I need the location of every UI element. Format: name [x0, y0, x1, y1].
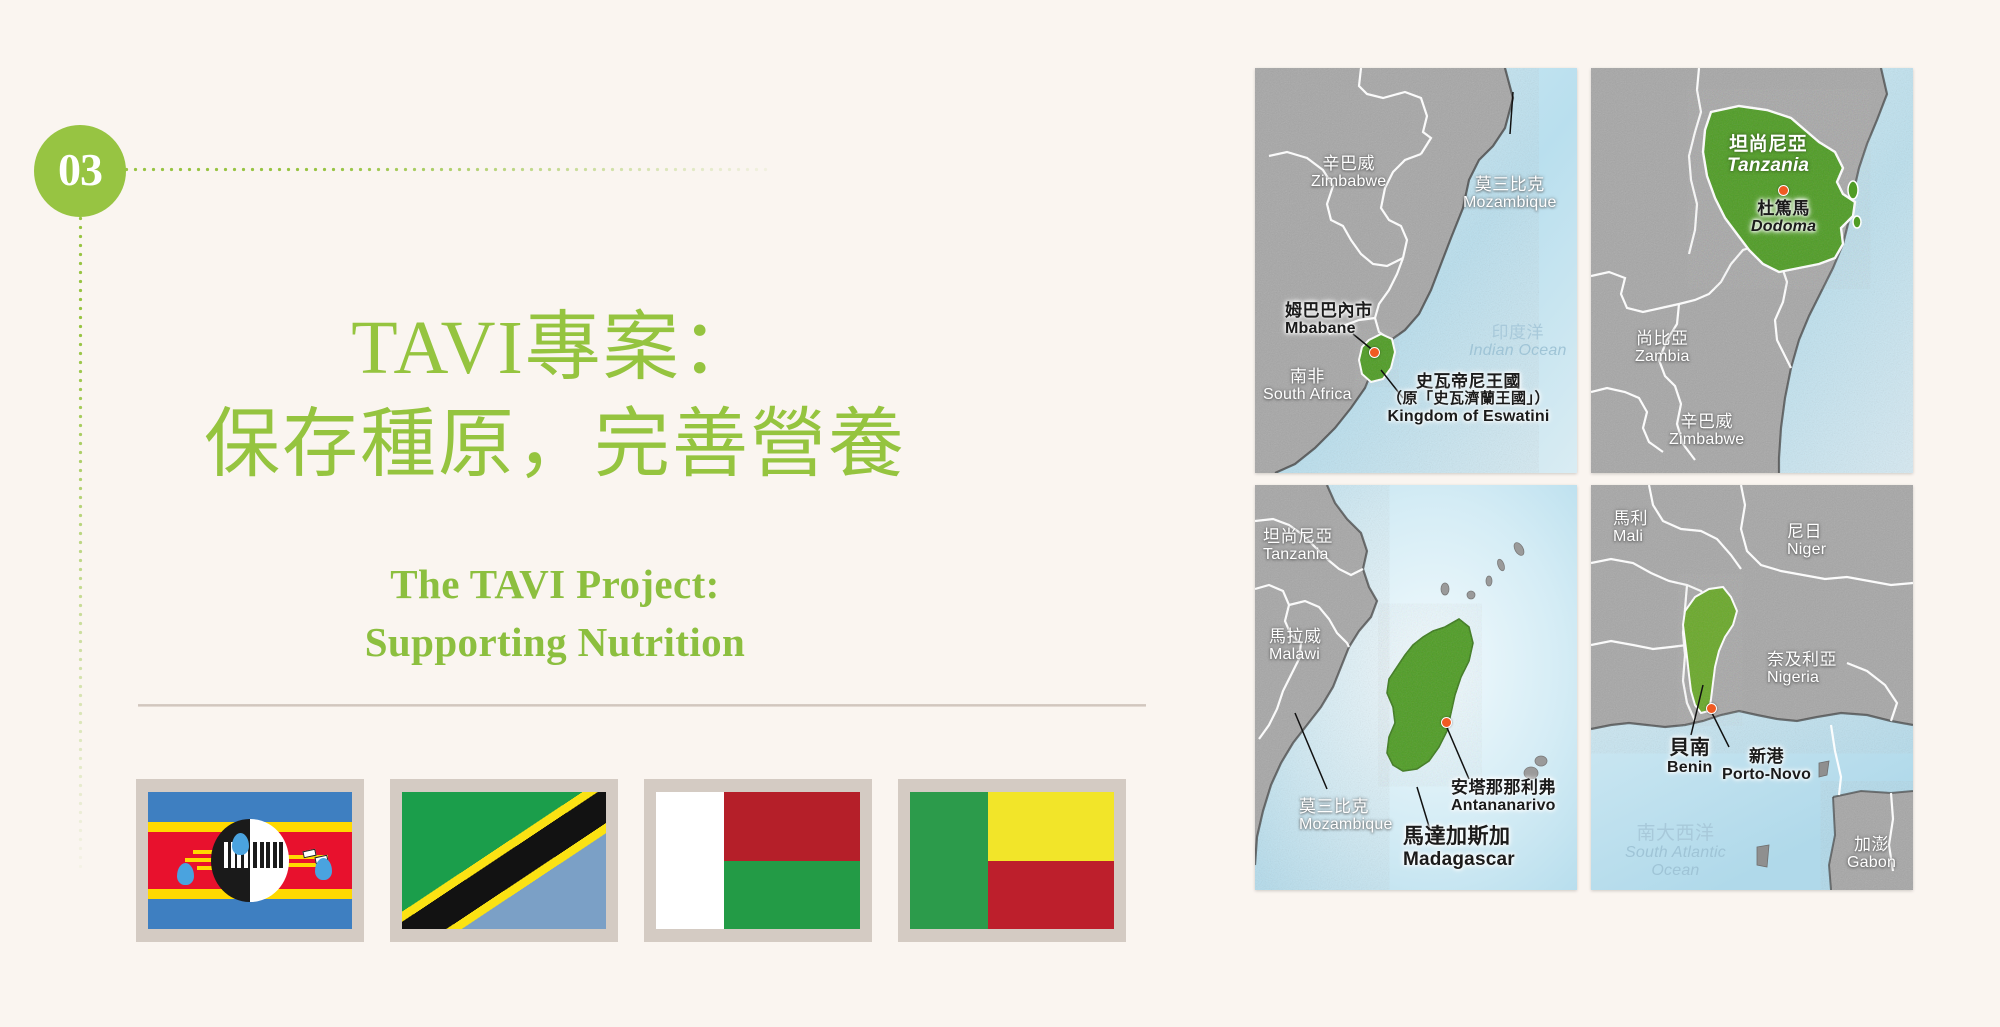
left-content-column: 03 TAVI專案： 保存種原，完善營養 The TAVI Project: S… — [0, 0, 1230, 1027]
map-tanzania-graphic — [1591, 68, 1913, 473]
map-grid: 辛巴威Zimbabwe 莫三比克Mozambique 姆巴巴內市Mbabane … — [1255, 68, 1913, 890]
page-subtitle: The TAVI Project: Supporting Nutrition — [0, 555, 1110, 671]
map-eswatini-graphic — [1255, 68, 1577, 473]
capital-marker-dodoma — [1778, 185, 1789, 196]
eswatini-flag — [136, 779, 364, 942]
eswatini-flag-graphic — [148, 792, 352, 929]
tanzania-flag-graphic — [402, 792, 606, 929]
slide-root: 03 TAVI專案： 保存種原，完善營養 The TAVI Project: S… — [0, 0, 2000, 1027]
section-number-badge: 03 — [34, 125, 126, 217]
section-divider — [138, 704, 1146, 707]
section-number-text: 03 — [58, 147, 102, 196]
map-madagascar[interactable]: 坦尚尼亞Tanzania 馬拉威Malawi 莫三比克Mozambique 安塔… — [1255, 485, 1577, 890]
title-line-2: 保存種原，完善營養 — [0, 397, 1110, 494]
capital-marker-porto-novo — [1706, 703, 1717, 714]
vertical-dotted-connector — [78, 214, 83, 874]
horizontal-dotted-connector — [122, 167, 772, 172]
title-line-1: TAVI專案： — [0, 300, 1110, 397]
benin-flag — [898, 779, 1126, 942]
page-title: TAVI專案： 保存種原，完善營養 — [0, 300, 1110, 495]
madagascar-flag — [644, 779, 872, 942]
capital-marker-antananarivo — [1441, 717, 1452, 728]
subtitle-line-1: The TAVI Project: — [0, 555, 1110, 613]
tanzania-flag — [390, 779, 618, 942]
madagascar-flag-graphic — [656, 792, 860, 929]
map-tanzania[interactable]: 坦尚尼亞 Tanzania 杜篤馬 Dodoma 尚比亞Zambia 辛巴威Zi… — [1591, 68, 1913, 473]
map-eswatini[interactable]: 辛巴威Zimbabwe 莫三比克Mozambique 姆巴巴內市Mbabane … — [1255, 68, 1577, 473]
map-benin[interactable]: 馬利Mali 尼日Niger 奈及利亞Nigeria 貝南 Benin 新港 P… — [1591, 485, 1913, 890]
subtitle-line-2: Supporting Nutrition — [0, 613, 1110, 671]
map-benin-graphic — [1591, 485, 1913, 890]
benin-flag-graphic — [910, 792, 1114, 929]
flag-row — [136, 779, 1126, 942]
map-madagascar-graphic — [1255, 485, 1577, 890]
capital-marker-mbabane — [1369, 347, 1380, 358]
